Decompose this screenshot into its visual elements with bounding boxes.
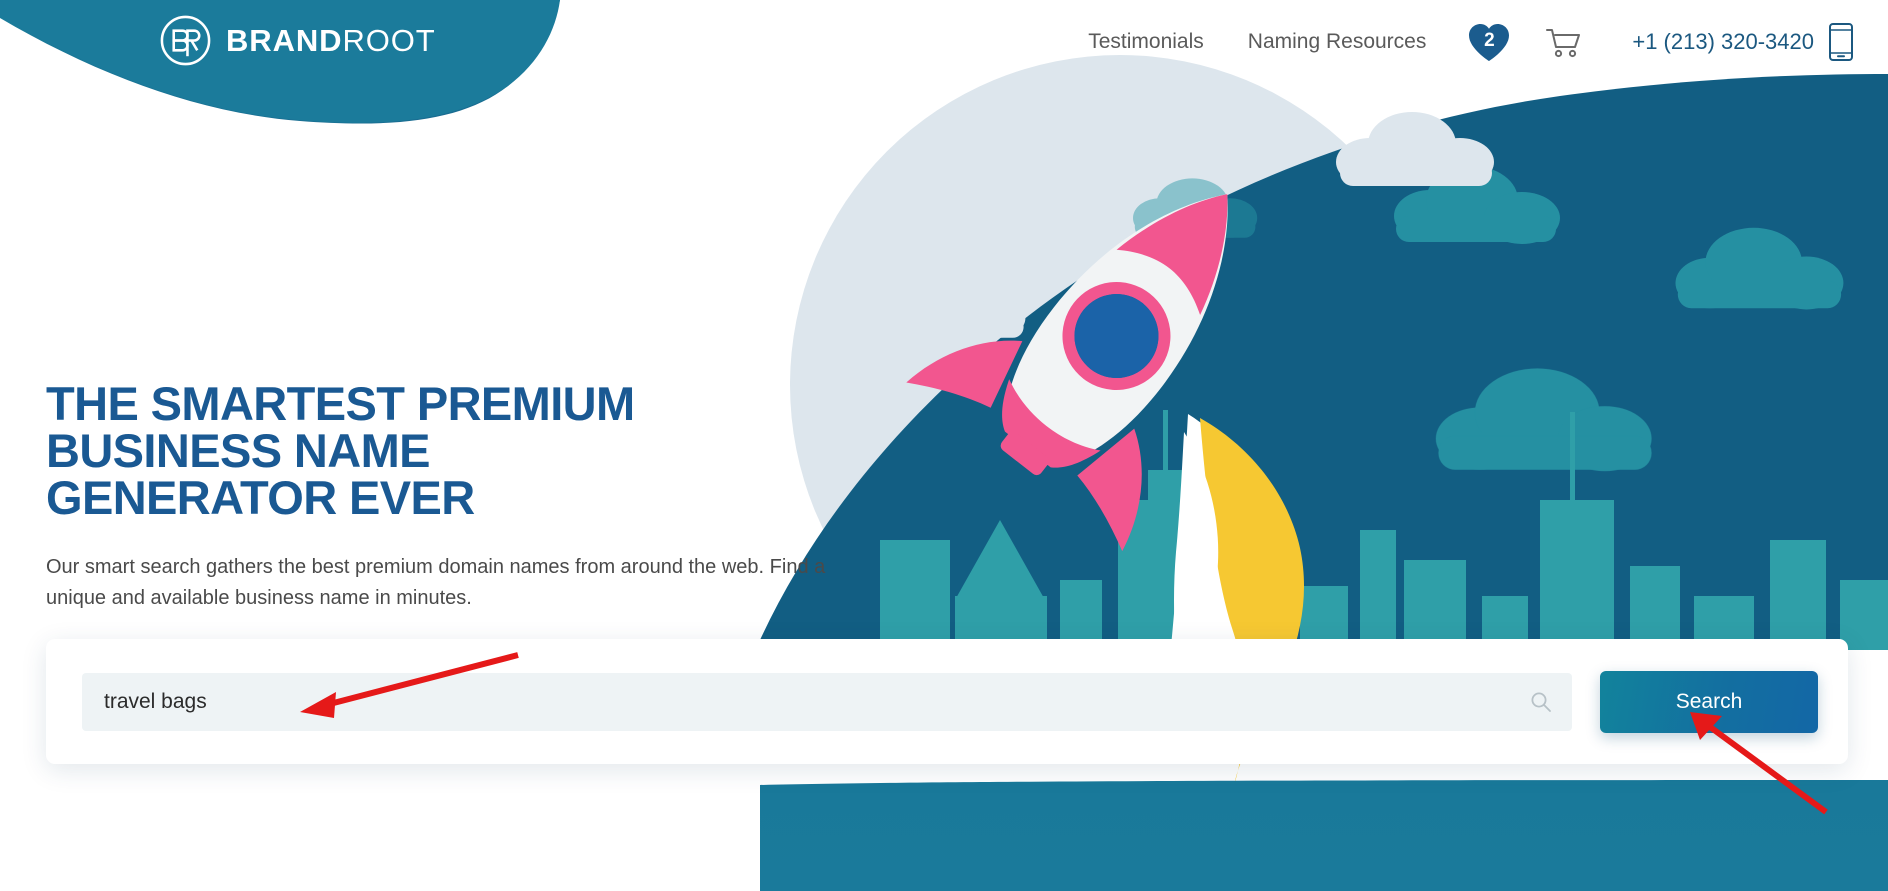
hero-copy: THE SMARTEST PREMIUM BUSINESS NAME GENER… [46,380,946,614]
phone-number-link[interactable]: +1 (213) 320-3420 [1632,29,1814,55]
phone-contact: +1 (213) 320-3420 [1632,22,1854,62]
brandroot-monogram-icon [158,13,213,68]
headline-line-2: BUSINESS NAME [46,427,946,474]
site-header: BRANDROOT Testimonials Naming Resources … [0,0,1888,92]
page-root: BRANDROOT Testimonials Naming Resources … [0,0,1888,891]
headline-line-1: THE SMARTEST PREMIUM [46,380,946,427]
header-icon-group: 2 +1 (213) 320-3420 [1466,20,1854,64]
shopping-cart-icon [1540,21,1586,63]
brand-logo-link[interactable]: BRANDROOT [158,13,436,68]
hero-subcopy: Our smart search gathers the best premiu… [46,552,836,614]
search-input[interactable] [104,690,1520,714]
shopping-cart-button[interactable] [1540,21,1586,63]
brand-name-light: ROOT [342,23,435,58]
page-title: THE SMARTEST PREMIUM BUSINESS NAME GENER… [46,380,946,521]
illustration-bottom-band [760,785,1888,891]
search-button[interactable]: Search [1600,671,1818,733]
search-icon [1530,691,1552,713]
favorites-heart-button[interactable]: 2 [1466,20,1512,64]
nav-link-naming-resources[interactable]: Naming Resources [1226,26,1449,58]
headline-line-3: GENERATOR EVER [46,474,946,521]
nav-link-testimonials[interactable]: Testimonials [1066,26,1226,58]
search-field-wrapper[interactable] [82,673,1572,731]
brand-wordmark: BRANDROOT [226,25,436,56]
mobile-phone-icon [1828,22,1854,62]
primary-navigation: Testimonials Naming Resources 2 [1066,20,1854,64]
brand-name-bold: BRAND [226,23,342,58]
favorites-count: 2 [1466,20,1512,64]
search-card: Search [46,639,1848,764]
